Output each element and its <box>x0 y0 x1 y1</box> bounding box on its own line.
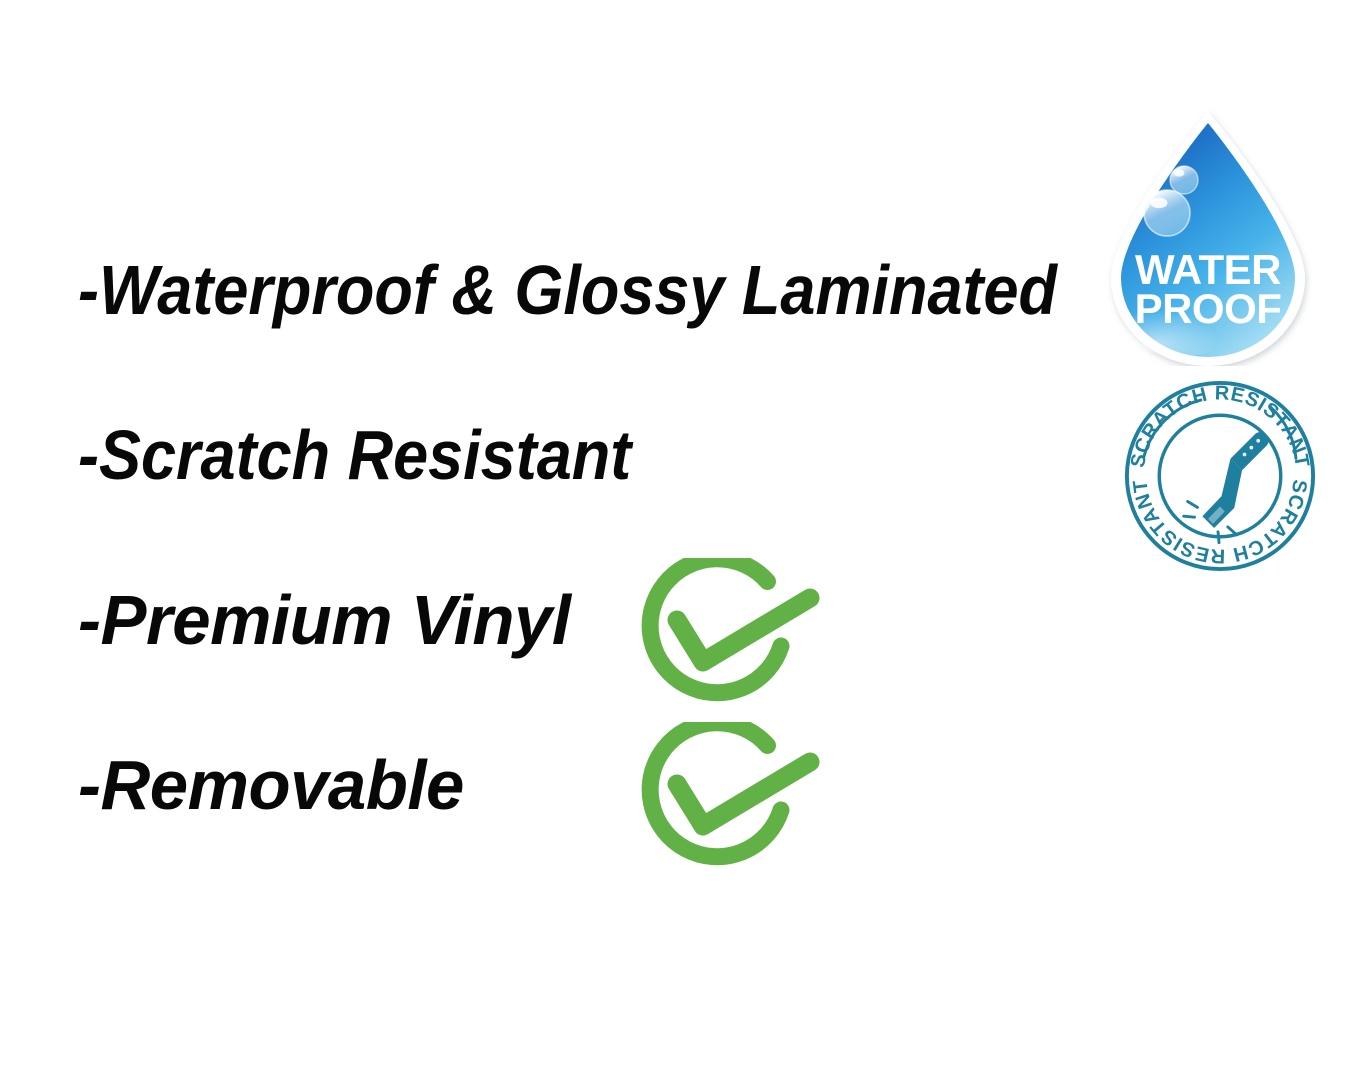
check-tick <box>677 762 810 826</box>
feature-label-premium-vinyl: -Premium Vinyl <box>78 582 571 658</box>
waterproof-badge: WATER PROOF <box>1104 108 1312 366</box>
product-feature-graphic: -Waterproof & Glossy Laminated -Scratch … <box>0 0 1359 1080</box>
check-tick <box>677 598 810 662</box>
feature-item-premium-vinyl: -Premium Vinyl <box>78 582 1098 747</box>
waterproof-badge-line2: PROOF <box>1135 285 1282 332</box>
check-mark-premium-vinyl <box>641 558 827 718</box>
scratch-resistant-badge: SCRATCH RESISTANT SCRATCH RESISTANT <box>1122 378 1318 574</box>
feature-item-removable: -Removable <box>78 747 1098 912</box>
badge-top-arc-text: SCRATCH RESISTANT <box>1127 382 1313 469</box>
feature-label-scratch-resistant: -Scratch Resistant <box>78 417 631 493</box>
water-bubble-large <box>1144 190 1190 236</box>
feature-label-removable: -Removable <box>78 747 464 823</box>
water-bubble-small <box>1170 166 1198 194</box>
badge-bottom-arc-text: SCRATCH RESISTANT <box>1129 478 1310 567</box>
feature-item-scratch-resistant: -Scratch Resistant <box>78 417 1098 582</box>
feature-label-waterproof: -Waterproof & Glossy Laminated <box>78 252 1057 328</box>
feature-item-waterproof: -Waterproof & Glossy Laminated <box>78 252 1098 417</box>
knife-icon <box>1202 432 1268 528</box>
feature-list: -Waterproof & Glossy Laminated -Scratch … <box>78 252 1098 912</box>
check-mark-removable <box>641 722 827 882</box>
